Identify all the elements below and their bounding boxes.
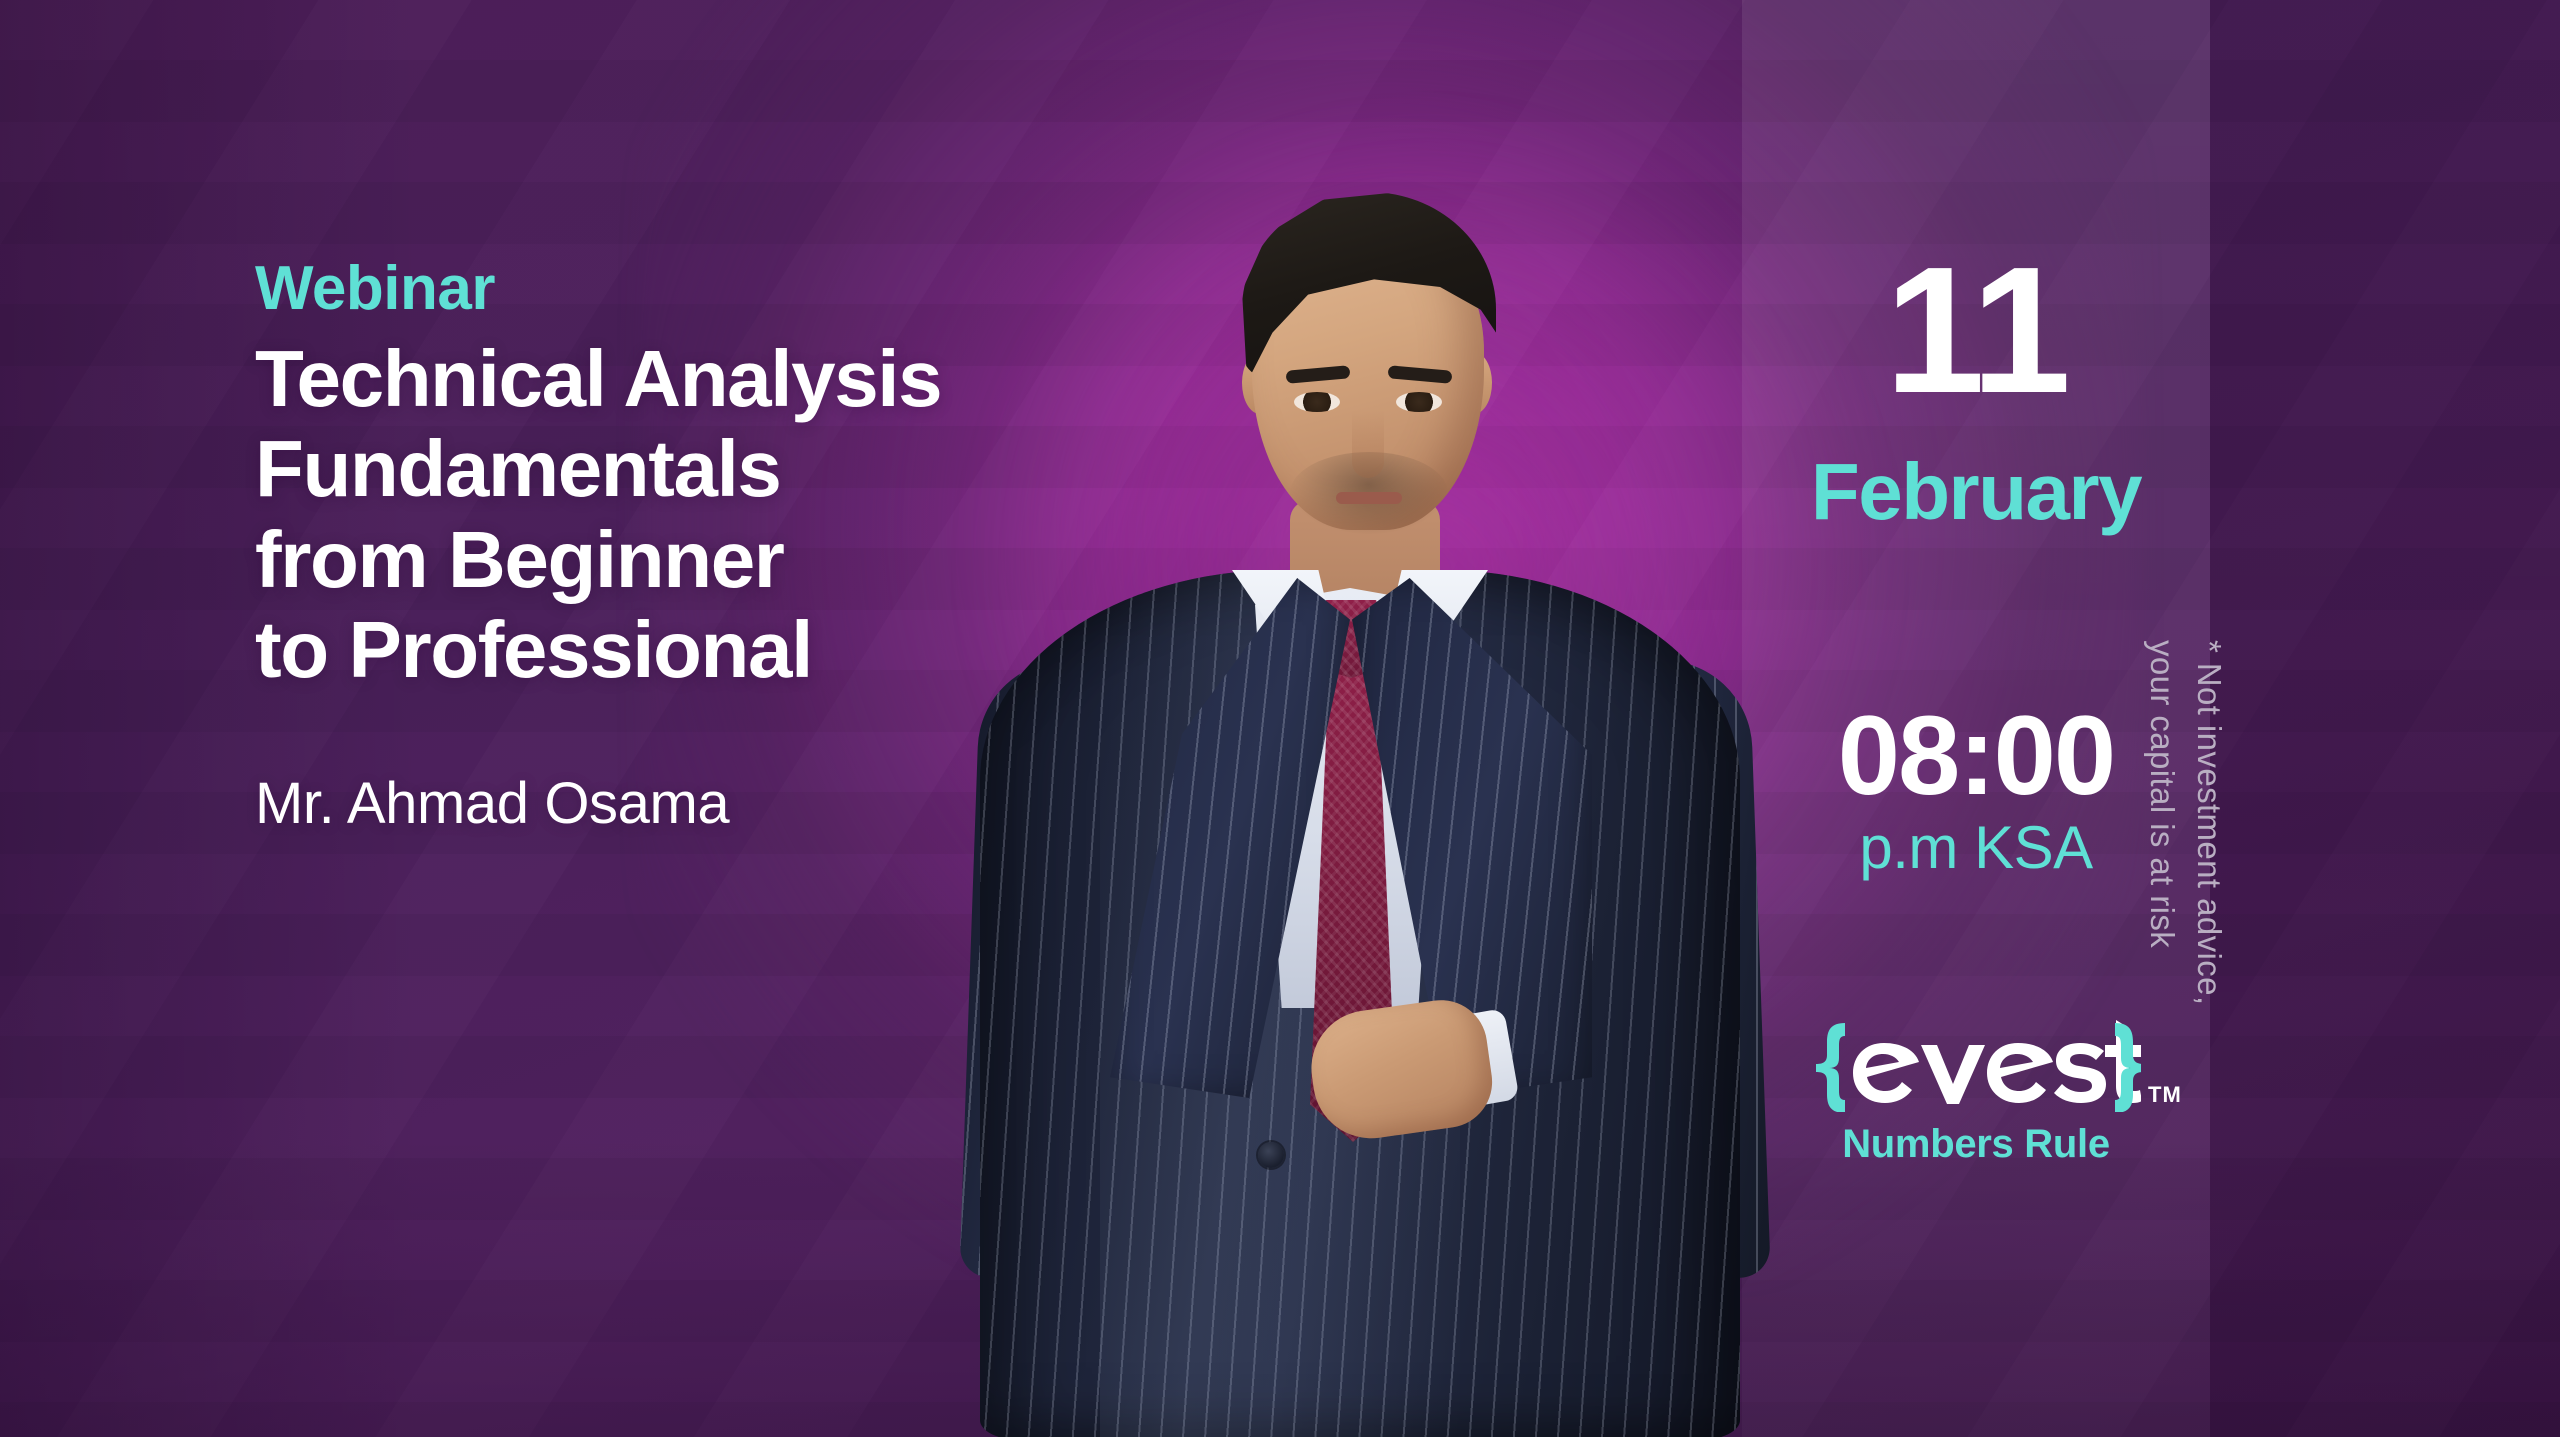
logo-letter-e2 — [1987, 1043, 2053, 1103]
speaker-name: Mr. Ahmad Osama — [255, 770, 1255, 837]
mouth — [1336, 492, 1402, 504]
event-day: 11 — [1742, 250, 2210, 412]
headline-line-1: Technical Analysis — [255, 334, 1255, 424]
headline-line-4: to Professional — [255, 605, 1255, 695]
risk-disclaimer: * Not investment advice, your capital is… — [2138, 640, 2232, 1200]
event-month: February — [1742, 452, 2210, 532]
headline-line-2: Fundamentals — [255, 424, 1255, 514]
disclaimer-line-2: your capital is at risk — [2138, 640, 2185, 1200]
webinar-poster: Webinar Technical Analysis Fundamentals … — [0, 0, 2560, 1437]
page-title: Technical Analysis Fundamentals from Beg… — [255, 334, 1255, 696]
eye-left — [1294, 392, 1340, 412]
logo-letter-e — [1853, 1043, 1919, 1103]
kicker-label: Webinar — [255, 258, 1255, 320]
suit-button — [1258, 1142, 1284, 1168]
disclaimer-line-1: * Not investment advice, — [2185, 640, 2232, 1200]
headline-block: Webinar Technical Analysis Fundamentals … — [255, 258, 1255, 837]
logo-brace-open — [1816, 1023, 1845, 1112]
nose — [1352, 410, 1384, 478]
evest-logo-icon — [1811, 1020, 2141, 1112]
eye-right — [1396, 392, 1442, 412]
logo-letter-v — [1921, 1045, 1985, 1104]
logo-letter-s — [2054, 1043, 2106, 1103]
headline-line-3: from Beginner — [255, 515, 1255, 605]
